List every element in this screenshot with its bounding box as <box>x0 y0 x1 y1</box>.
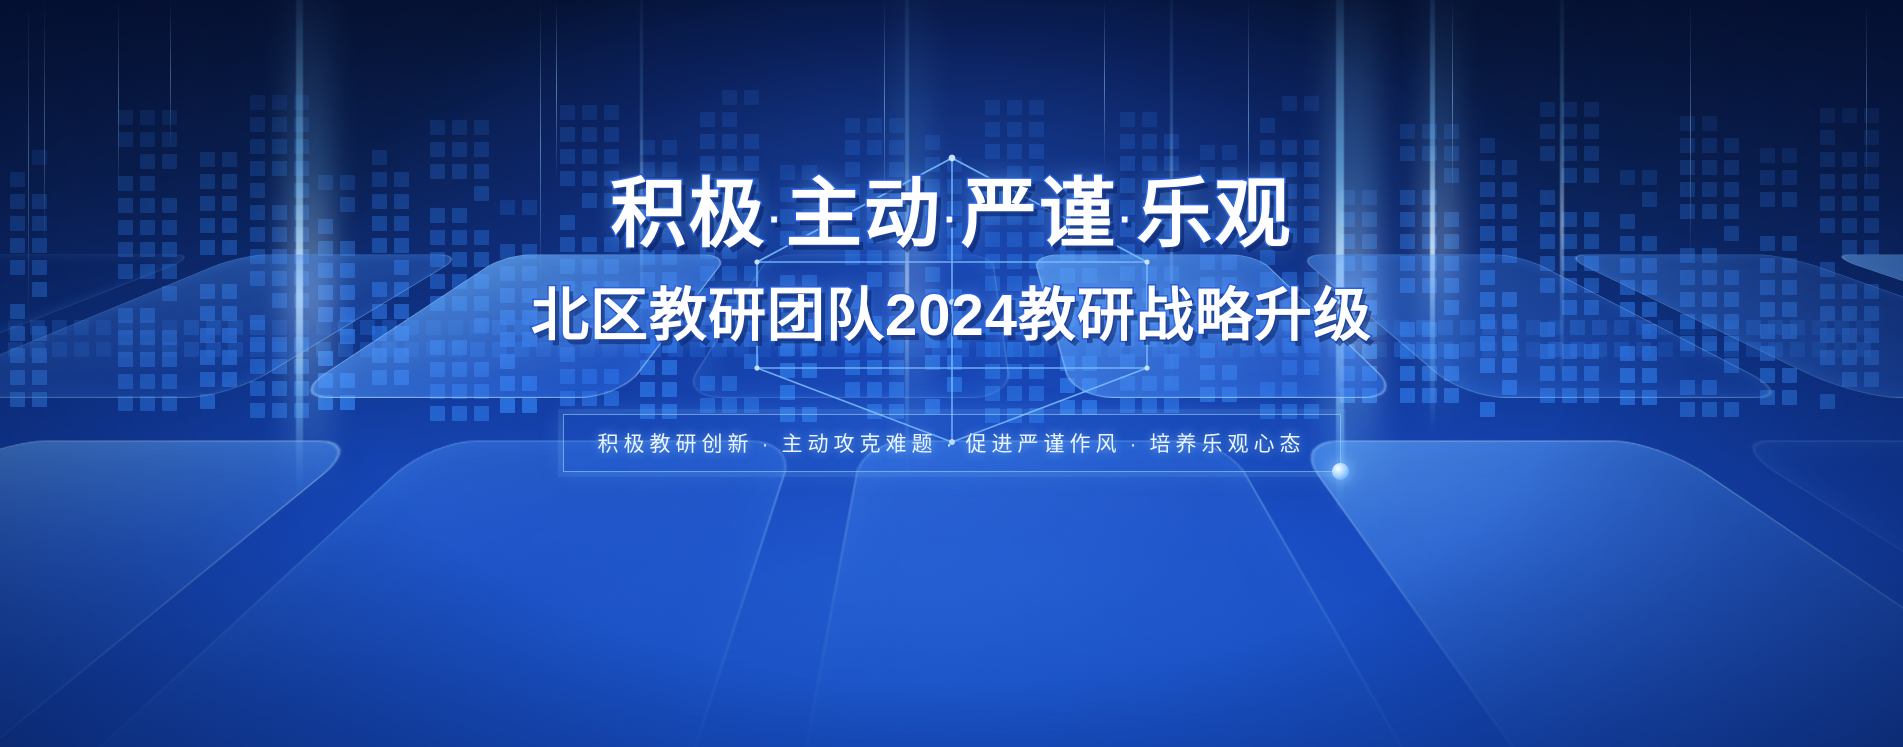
event-banner: 积极·主动·严谨·乐观 北区教研团队2024教研战略升级 积极教研创新·主动攻克… <box>0 0 1903 747</box>
tagline-separator-2: · <box>938 433 966 456</box>
headline-separator-1: · <box>767 198 786 242</box>
headline-word-4: 乐观 <box>1136 172 1292 257</box>
tagline-item-3: 促进严谨作风 <box>966 433 1122 456</box>
banner-content: 积极·主动·严谨·乐观 北区教研团队2024教研战略升级 积极教研创新·主动攻克… <box>0 0 1903 472</box>
headline-word-1: 积极 <box>611 172 767 257</box>
headline-word-2: 主动 <box>786 172 942 257</box>
headline-word-3: 严谨 <box>961 172 1117 257</box>
tagline-separator-3: · <box>1122 433 1150 456</box>
tagline-item-2: 主动攻克难题 <box>782 433 938 456</box>
banner-headline: 积极·主动·严谨·乐观 <box>611 176 1293 254</box>
tagline-separator-1: · <box>754 433 782 456</box>
tagline-item-1: 积极教研创新 <box>598 433 754 456</box>
tagline-box: 积极教研创新·主动攻克难题·促进严谨作风·培养乐观心态 <box>563 414 1341 472</box>
headline-separator-3: · <box>1117 198 1136 242</box>
headline-separator-2: · <box>942 198 961 242</box>
tagline-item-4: 培养乐观心态 <box>1150 433 1306 456</box>
banner-tagline: 积极教研创新·主动攻克难题·促进严谨作风·培养乐观心态 <box>598 428 1306 458</box>
glow-orb-icon <box>1332 463 1349 480</box>
banner-subheadline: 北区教研团队2024教研战略升级 <box>531 268 1372 352</box>
